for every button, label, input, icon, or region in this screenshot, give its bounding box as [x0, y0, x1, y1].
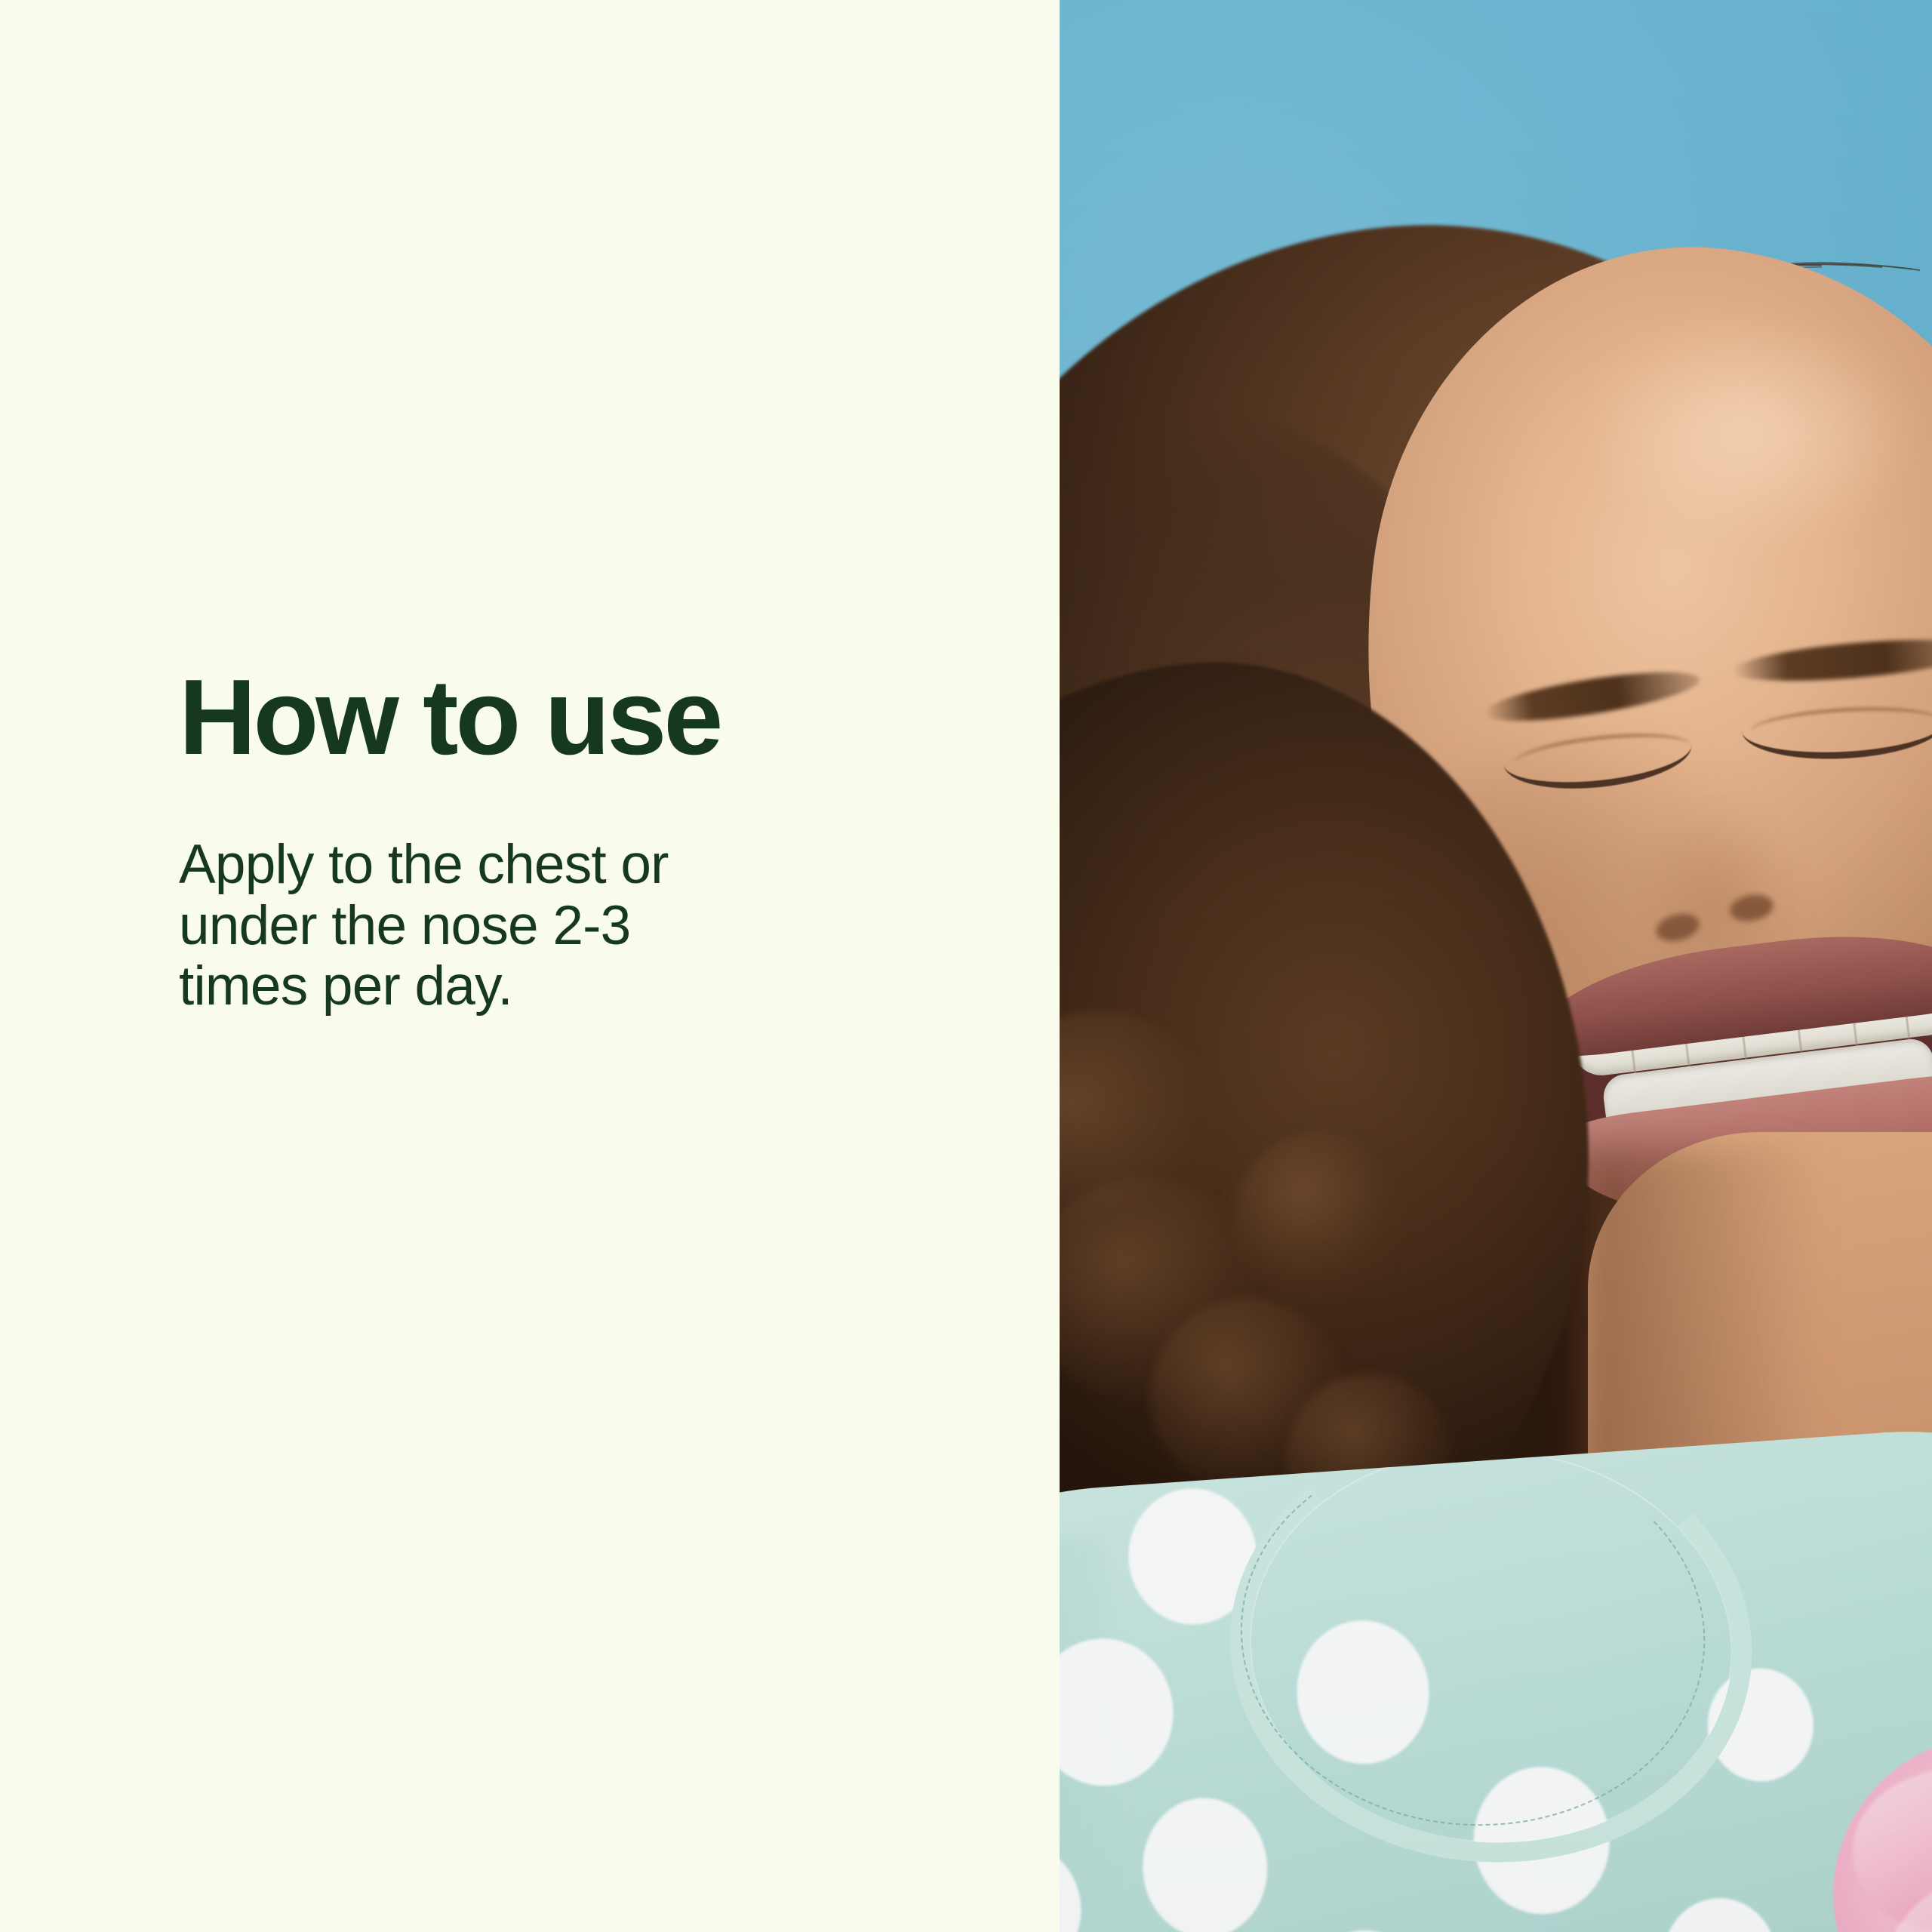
photo-stage: [1060, 0, 1932, 1932]
ad-canvas: How to use Apply to the chest or under t…: [0, 0, 1932, 1932]
pink-rosette: [1823, 1724, 1932, 1932]
hair-curl: [1233, 1132, 1407, 1306]
page-title: How to use: [179, 664, 896, 771]
text-block: How to use Apply to the chest or under t…: [179, 664, 896, 1017]
instruction-text: Apply to the chest or under the nose 2-3…: [179, 771, 896, 1017]
instruction-line-2: under the nose 2-3: [179, 896, 896, 957]
polka-dot-shirt: [1060, 1419, 1932, 1932]
forehead-highlight: [1588, 317, 1912, 543]
text-panel: How to use Apply to the chest or under t…: [0, 0, 1060, 1932]
polka-dot: [1299, 1926, 1432, 1932]
polka-dot: [1660, 1894, 1781, 1932]
polka-dot: [1060, 1634, 1178, 1790]
polka-dot: [1138, 1794, 1272, 1932]
instruction-line-1: Apply to the chest or: [179, 835, 896, 896]
instruction-line-3: times per day.: [179, 956, 896, 1017]
product-photo: [1060, 0, 1932, 1932]
